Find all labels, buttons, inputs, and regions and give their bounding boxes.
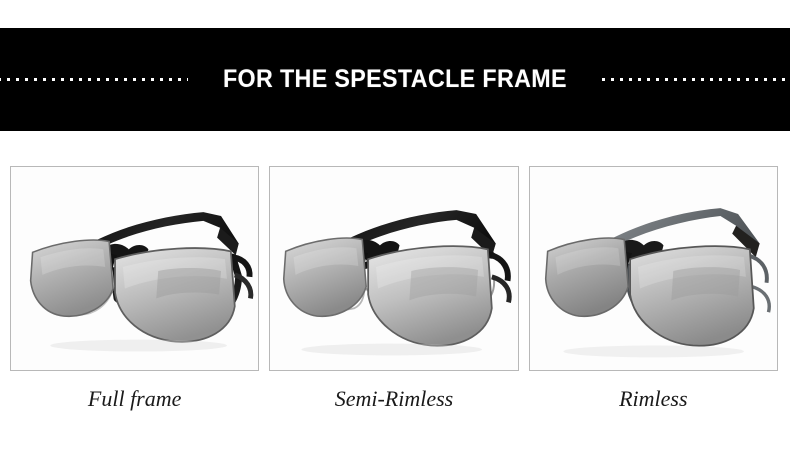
caption-row: Full frame Semi-Rimless Rimless: [10, 382, 778, 428]
product-image-rimless: [530, 167, 777, 370]
product-image-full-frame: [11, 167, 258, 370]
header-banner: FOR THE SPESTACLE FRAME: [0, 28, 790, 131]
dotted-rule-right-icon: [602, 78, 790, 82]
caption-rimless: Rimless: [529, 382, 778, 428]
glasses-illustration-full-frame: [11, 167, 258, 370]
dotted-rule-left-icon: [0, 78, 188, 82]
glasses-illustration-rimless: [530, 167, 777, 370]
glasses-illustration-semi-rimless: [270, 167, 517, 370]
product-panel-row: [10, 166, 778, 371]
product-panel-semi-rimless[interactable]: [269, 166, 518, 371]
caption-full-frame: Full frame: [10, 382, 259, 428]
product-image-semi-rimless: [270, 167, 517, 370]
page-title: FOR THE SPESTACLE FRAME: [223, 65, 567, 94]
caption-semi-rimless: Semi-Rimless: [269, 382, 518, 428]
product-panel-full-frame[interactable]: [10, 166, 259, 371]
product-panel-rimless[interactable]: [529, 166, 778, 371]
